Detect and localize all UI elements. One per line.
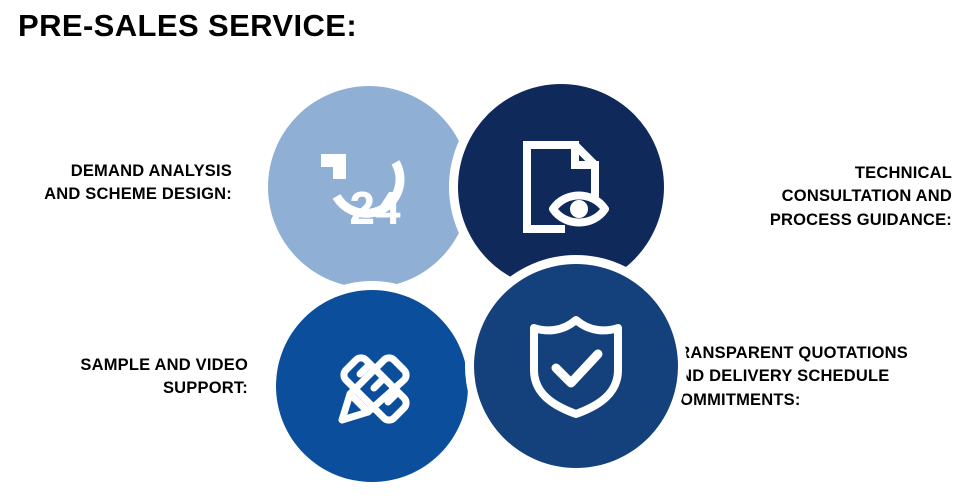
pencil-ruler-icon [320,334,424,438]
label-transparent-quotations: TRANSPARENT QUOTATIONS AND DELIVERY SCHE… [668,342,960,412]
shield-check-icon [526,314,626,418]
circle-transparent-quotations[interactable] [474,264,678,468]
label-sample-video-support: SAMPLE AND VIDEO SUPPORT: [8,354,248,401]
circle-sample-video-support[interactable] [276,290,468,482]
label-technical-consultation: TECHNICAL CONSULTATION AND PROCESS GUIDA… [728,162,952,232]
clock-24-arrow-icon: 24 [313,132,425,242]
svg-text:24: 24 [349,182,401,234]
circle-demand-analysis[interactable]: 24 [268,86,470,288]
label-demand-analysis: DEMAND ANALYSIS AND SCHEME DESIGN: [0,160,232,207]
circle-technical-consultation[interactable] [458,84,664,290]
document-eye-icon [509,135,613,239]
pre-sales-service-diagram: 24 [0,0,960,498]
